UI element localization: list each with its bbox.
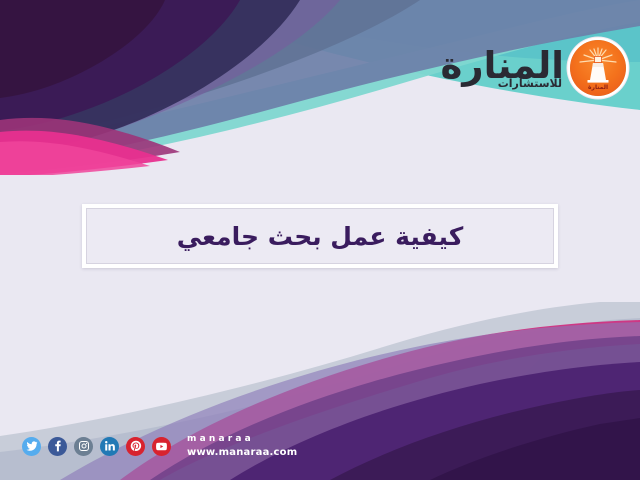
title-card: كيفية عمل بحث جامعي [82,204,558,268]
logo-wordmark: المنارة للاستشارات [440,47,564,89]
brand-latin-name: manaraa [187,434,297,444]
page-title: كيفية عمل بحث جامعي [177,222,464,251]
logo-subtitle: للاستشارات [498,78,562,89]
youtube-icon[interactable] [152,437,171,456]
linkedin-icon[interactable] [100,437,119,456]
lighthouse-icon: المنارة [570,40,626,96]
footer-brand-text: manaraa www.manaraa.com [187,434,297,458]
brand-website-url: www.manaraa.com [187,447,297,459]
facebook-icon[interactable] [48,437,67,456]
title-card-inner: كيفية عمل بحث جامعي [86,208,554,264]
twitter-icon[interactable] [22,437,41,456]
pinterest-icon[interactable] [126,437,145,456]
brand-logo: المنارة المنارة للاستشارات [440,40,626,96]
footer-bar: manaraa www.manaraa.com [22,434,297,458]
slide-canvas: المنارة المنارة للاستشارات كيفية عمل بحث… [0,0,640,480]
instagram-icon[interactable] [74,437,93,456]
badge-caption: المنارة [588,84,608,91]
